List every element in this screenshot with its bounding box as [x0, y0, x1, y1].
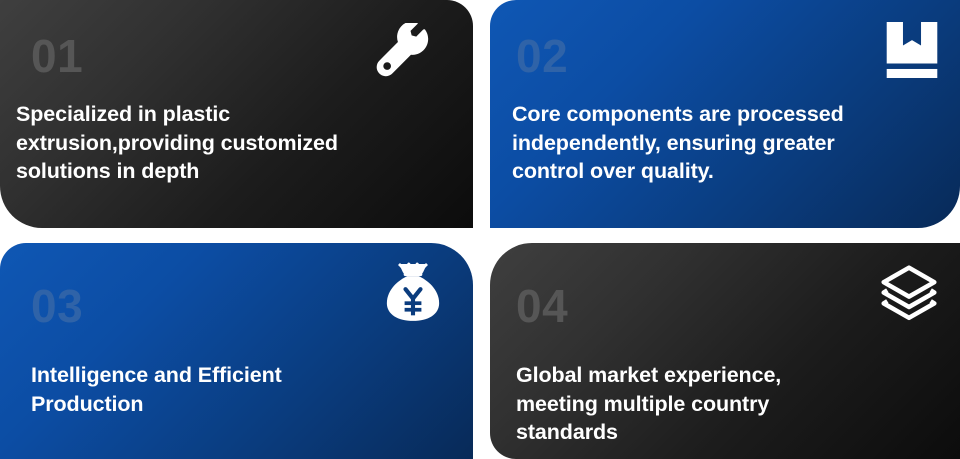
feature-card-02-inner: 02 Core components are processed indepen… [490, 0, 960, 228]
feature-card-03-text: Intelligence and Efficient Production [31, 361, 451, 418]
feature-card-01-text: Specialized in plastic extrusion,providi… [16, 100, 446, 186]
feature-card-03-number: 03 [31, 283, 83, 329]
feature-card-04-number: 04 [516, 283, 568, 329]
feature-card-02-number: 02 [516, 33, 568, 79]
feature-card-04[interactable]: 04 Global market experience, meeting mul… [490, 243, 960, 459]
feature-card-01-number: 01 [31, 33, 83, 79]
layers-stack-icon [880, 265, 938, 321]
feature-card-03[interactable]: 03 Intelligence and Efficient Productio [0, 243, 473, 459]
feature-card-02[interactable]: 02 Core components are processed indepen… [490, 0, 960, 228]
feature-card-04-text: Global market experience, meeting multip… [516, 361, 946, 447]
money-bag-yen-icon [385, 261, 441, 323]
feature-card-01[interactable]: 01 Specialized in plastic extrusion,prov… [0, 0, 473, 228]
feature-card-grid: 01 Specialized in plastic extrusion,prov… [0, 0, 960, 459]
feature-card-02-text: Core components are processed independen… [512, 100, 954, 186]
wrench-icon [375, 23, 431, 79]
feature-card-03-inner: 03 Intelligence and Efficient Productio [0, 243, 473, 459]
book-bookmark-icon [886, 22, 938, 78]
feature-card-04-inner: 04 Global market experience, meeting mul… [490, 243, 960, 459]
feature-card-01-inner: 01 Specialized in plastic extrusion,prov… [0, 0, 473, 228]
